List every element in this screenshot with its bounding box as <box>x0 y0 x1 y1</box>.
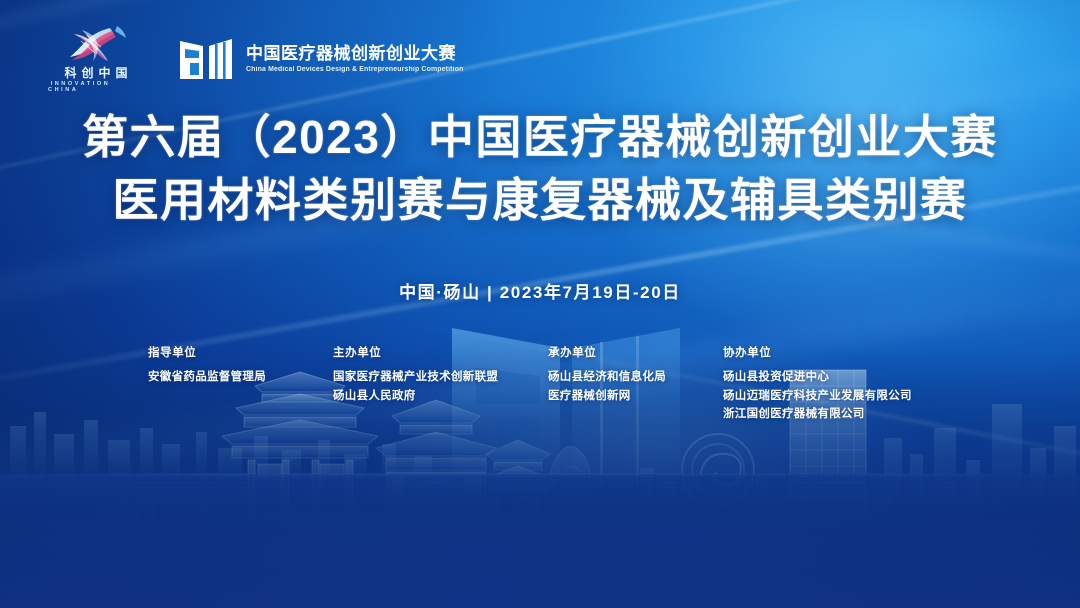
organizer-heading: 主办单位 <box>333 344 548 360</box>
phoenix-bird-icon <box>60 24 132 64</box>
organizer-item: 浙江国创医疗器械有限公司 <box>723 405 912 424</box>
organizer-item: 安徽省药品监督管理局 <box>148 368 333 387</box>
open-door-icon <box>178 35 234 83</box>
poster-canvas: 科创中国 INNOVATION CHINA 中国医疗器械创新创业大赛 China… <box>0 0 1080 608</box>
organizer-heading: 协办单位 <box>723 344 912 360</box>
page-title: 第六届（2023）中国医疗器械创新创业大赛 医用材料类别赛与康复器械及辅具类别赛 <box>0 106 1080 231</box>
organizer-heading: 承办单位 <box>548 344 723 360</box>
organizer-item: 砀山县经济和信息化局 <box>548 368 723 387</box>
organizer-column-organizer: 承办单位 砀山县经济和信息化局 医疗器械创新网 <box>548 344 723 424</box>
organizer-sections: 指导单位 安徽省药品监督管理局 主办单位 国家医疗器械产业技术创新联盟 砀山县人… <box>148 344 1020 424</box>
logo-competition[interactable]: 中国医疗器械创新创业大赛 China Medical Devices Desig… <box>178 35 466 83</box>
logo-innovation-china[interactable]: 科创中国 INNOVATION CHINA <box>48 24 144 93</box>
organizer-item: 医疗器械创新网 <box>548 387 723 406</box>
organizer-item: 砀山县人民政府 <box>333 387 548 406</box>
organizer-column-guidance: 指导单位 安徽省药品监督管理局 <box>148 344 333 424</box>
header-logos: 科创中国 INNOVATION CHINA 中国医疗器械创新创业大赛 China… <box>48 24 466 93</box>
competition-title-en: China Medical Devices Design & Entrepren… <box>246 66 463 73</box>
organizer-heading: 指导单位 <box>148 344 333 360</box>
organizer-item: 国家医疗器械产业技术创新联盟 <box>333 368 548 387</box>
organizer-item: 砀山迈瑞医疗科技产业发展有限公司 <box>723 387 912 406</box>
organizer-column-host: 主办单位 国家医疗器械产业技术创新联盟 砀山县人民政府 <box>333 344 548 424</box>
innovation-china-en: INNOVATION CHINA <box>48 82 144 93</box>
competition-title-cn: 中国医疗器械创新创业大赛 <box>246 44 466 64</box>
innovation-china-cn: 科创中国 <box>59 67 132 79</box>
organizer-item: 砀山县投资促进中心 <box>723 368 912 387</box>
title-line-1: 第六届（2023）中国医疗器械创新创业大赛 <box>0 106 1080 169</box>
organizer-column-coorganizer: 协办单位 砀山县投资促进中心 砀山迈瑞医疗科技产业发展有限公司 浙江国创医疗器械… <box>723 344 912 424</box>
title-line-2: 医用材料类别赛与康复器械及辅具类别赛 <box>0 169 1080 232</box>
event-location-date: 中国·砀山 | 2023年7月19日-20日 <box>0 278 1080 303</box>
